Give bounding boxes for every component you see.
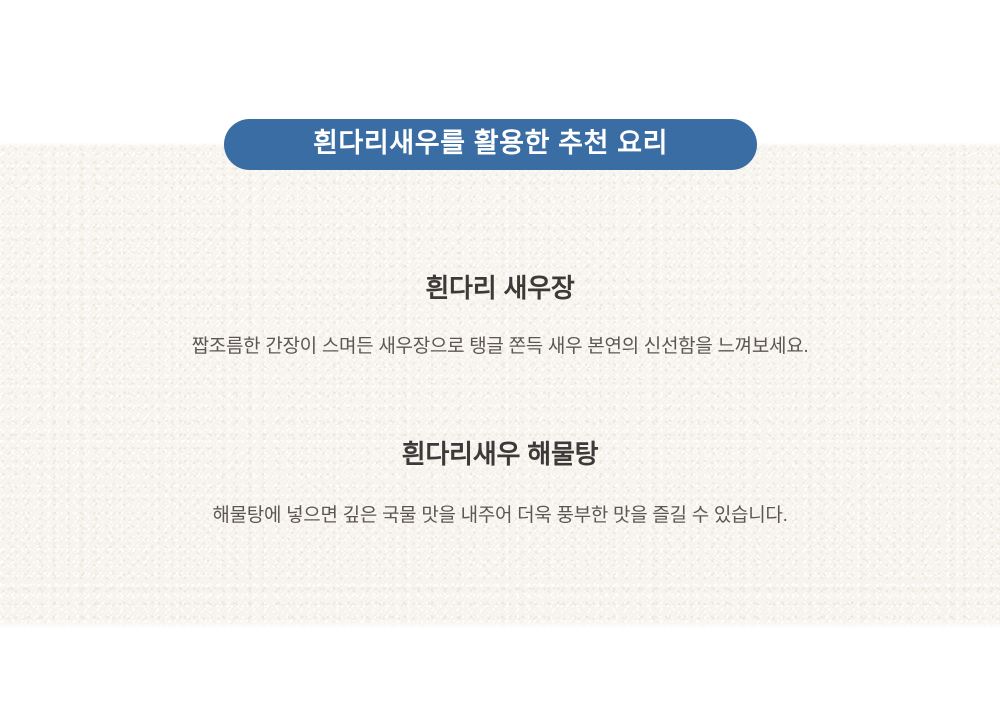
dish-title-1: 흰다리 새우장 [0,272,1000,306]
paper-texture-background [0,143,1000,628]
promo-page: 흰다리새우를 활용한 추천 요리 흰다리 새우장 짭조름한 간장이 스며든 새우… [0,0,1000,707]
dish-block-2: 흰다리새우 해물탕 해물탕에 넣으면 깊은 국물 맛을 내주어 더욱 풍부한 맛… [0,438,1000,530]
dish-description-1: 짭조름한 간장이 스며든 새우장으로 탱글 쫀득 새우 본연의 신선함을 느껴보… [0,333,1000,362]
section-banner: 흰다리새우를 활용한 추천 요리 [224,119,757,170]
banner-title: 흰다리새우를 활용한 추천 요리 [313,130,668,159]
dish-block-1: 흰다리 새우장 짭조름한 간장이 스며든 새우장으로 탱글 쫀득 새우 본연의 … [0,272,1000,361]
dish-description-2: 해물탕에 넣으면 깊은 국물 맛을 내주어 더욱 풍부한 맛을 즐길 수 있습니… [0,502,1000,531]
dish-title-2: 흰다리새우 해물탕 [0,438,1000,472]
